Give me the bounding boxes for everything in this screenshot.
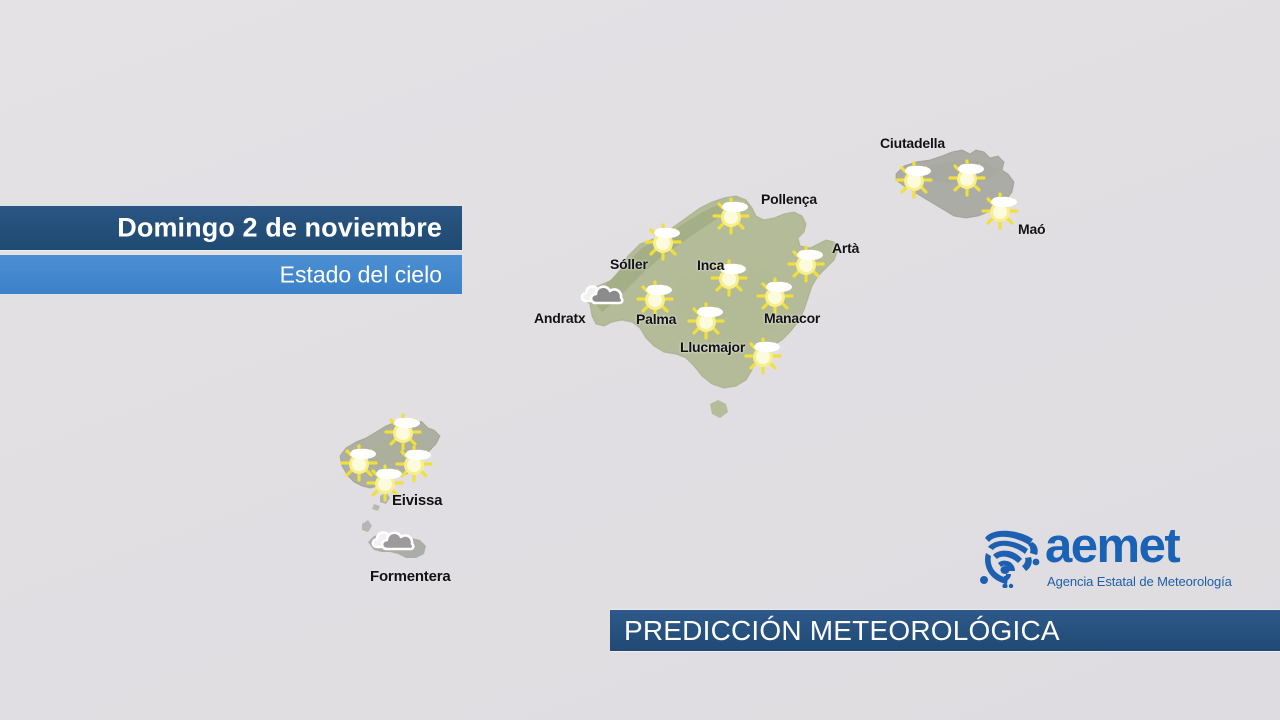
weather-icon-poco-nuboso [891, 157, 937, 203]
city-label-formentera: Formentera [370, 568, 451, 585]
city-label-palma: Palma [636, 311, 676, 327]
city-label-pollenca: Pollença [761, 191, 817, 207]
subtitle-label: Estado del cielo [280, 261, 442, 288]
aemet-spain-swirl-icon [975, 526, 1041, 588]
forecast-title-block: Domingo 2 de noviembre Estado del cielo [0, 206, 462, 294]
weather-icon-poco-nuboso [683, 298, 729, 344]
weather-icon-poco-nuboso [977, 188, 1023, 234]
city-label-andratx: Andratx [534, 310, 586, 326]
aemet-wordmark: aemet [1045, 522, 1179, 571]
city-label-ciutadella: Ciutadella [880, 135, 945, 151]
city-label-mao: Maó [1018, 221, 1045, 237]
weather-forecast-map: Pollença Sóller Inca Artà Andratx Palma … [0, 0, 1280, 720]
city-label-inca: Inca [697, 257, 724, 273]
city-label-arta: Artà [832, 240, 859, 256]
subtitle-bar: Estado del cielo [0, 255, 462, 294]
weather-icon-poco-nuboso [740, 333, 786, 379]
bottom-banner: PREDICCIÓN METEOROLÓGICA [610, 610, 1280, 651]
date-bar: Domingo 2 de noviembre [0, 206, 462, 250]
city-label-eivissa: Eivissa [392, 492, 442, 509]
city-label-llucmajor: Llucmajor [680, 339, 745, 355]
weather-icon-nuboso [369, 520, 415, 566]
city-label-manacor: Manacor [764, 310, 820, 326]
bottom-banner-label: PREDICCIÓN METEOROLÓGICA [624, 615, 1060, 647]
aemet-logo: aemet Agencia Estatal de Meteorología [975, 524, 1220, 592]
city-label-soller: Sóller [610, 256, 648, 272]
date-label: Domingo 2 de noviembre [117, 213, 442, 244]
weather-icon-poco-nuboso [708, 193, 754, 239]
aemet-tagline: Agencia Estatal de Meteorología [1047, 574, 1232, 589]
